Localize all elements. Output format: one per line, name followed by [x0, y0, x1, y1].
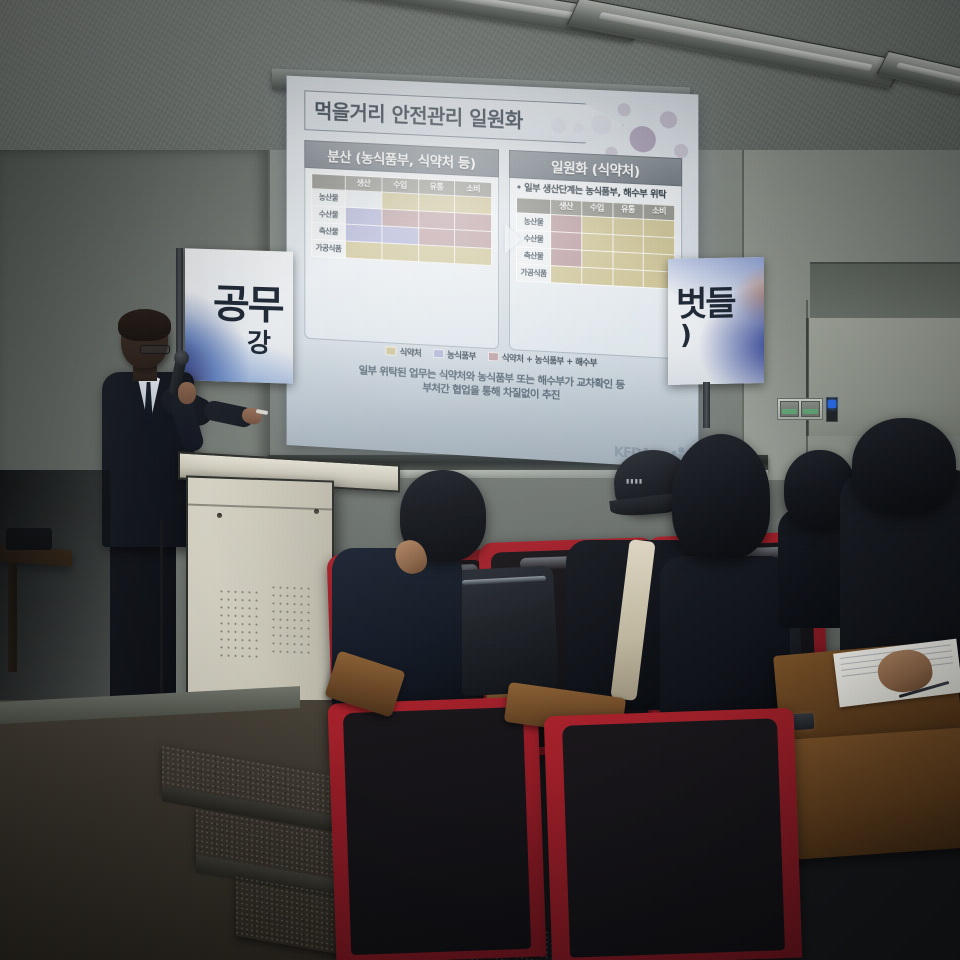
- cell-a-3-0: [551, 265, 582, 284]
- transition-arrow-icon: [505, 224, 521, 255]
- banner-left-line2: 강: [247, 322, 269, 360]
- matrix-after-row-0: 농산물: [517, 212, 551, 231]
- matrix-before-row-3: 가공식품: [312, 239, 346, 258]
- speaker-right-hand: [178, 382, 196, 404]
- cell-b-0-0: [345, 190, 381, 209]
- cell-a-0-3: [643, 219, 674, 238]
- legend-label-all: 식약처 + 농식품부 + 해수부: [502, 353, 597, 368]
- cell-b-3-0: [345, 241, 381, 260]
- matrix-before-row-0: 농산물: [312, 189, 346, 208]
- legend-swatch-kfda: [386, 346, 397, 356]
- matrix-after-col-0: 생산: [551, 199, 582, 216]
- legend-item-kfda: 식약처: [386, 345, 421, 359]
- cell-a-1-2: [612, 234, 643, 253]
- panel-after-body: • 일부 생산단계는 농식품부, 해수부 위탁 생산 수입 유통 소비: [509, 178, 682, 360]
- theater-seat-front[interactable]: [328, 696, 547, 960]
- cell-b-1-0: [345, 207, 381, 226]
- matrix-after-col-3: 소비: [643, 204, 674, 221]
- audience-2-cap-logo-icon: ▮▮▮▮: [626, 478, 643, 485]
- cell-a-1-1: [581, 233, 612, 252]
- legend-swatch-all: [488, 352, 499, 362]
- cell-a-0-2: [612, 217, 643, 236]
- podium-speaker-grille-right: [270, 583, 312, 658]
- matrix-before-row-1: 수산물: [312, 205, 346, 224]
- backpack-1: [449, 565, 559, 696]
- cell-b-3-1: [382, 243, 418, 262]
- cell-b-0-2: [418, 194, 455, 213]
- panel-after: 일원화 (식약처) • 일부 생산단계는 농식품부, 해수부 위탁 생산 수입: [509, 150, 682, 356]
- banner-right-line1: 벗들: [676, 276, 735, 326]
- legend-label-mafra: 농식품부: [447, 350, 476, 362]
- podium-screw-left: [217, 513, 222, 518]
- cell-b-0-3: [455, 196, 492, 215]
- legend-swatch-mafra: [433, 349, 444, 359]
- cell-a-1-3: [643, 236, 674, 255]
- cell-a-3-2: [612, 268, 643, 287]
- microphone-cable: [160, 520, 182, 710]
- presentation-slide: 먹을거리 안전관리 일원화 분산 (농식품부, 식약처 등) 생산 수입: [287, 76, 699, 470]
- audience-3-torso: [660, 556, 790, 730]
- cell-b-2-3: [455, 230, 492, 249]
- legend-item-mafra: 농식품부: [433, 348, 476, 362]
- podium-speaker-grille-left: [218, 587, 260, 662]
- cell-b-2-1: [382, 226, 418, 245]
- matrix-after-row-1: 수산물: [517, 229, 551, 248]
- cell-b-1-2: [418, 211, 455, 230]
- lecture-hall-photo: 먹을거리 안전관리 일원화 분산 (농식품부, 식약처 등) 생산 수입: [0, 0, 960, 960]
- matrix-before-corner: [312, 174, 346, 191]
- matrix-after-row-3: 가공식품: [517, 263, 551, 282]
- matrix-before: 생산 수입 유통 소비 농산물: [311, 173, 492, 266]
- theater-seat-front-2[interactable]: [544, 708, 803, 960]
- matrix-after-col-2: 유통: [612, 202, 643, 219]
- cell-b-3-2: [418, 245, 455, 264]
- matrix-after-col-1: 수입: [581, 201, 612, 218]
- legend-label-kfda: 식약처: [400, 347, 421, 358]
- audience-5-head: [852, 418, 956, 514]
- matrix-after-corner: [517, 197, 551, 214]
- projection-screen: 먹을거리 안전관리 일원화 분산 (농식품부, 식약처 등) 생산 수입: [287, 76, 699, 470]
- cell-b-0-1: [382, 192, 418, 211]
- cell-a-1-0: [551, 231, 582, 250]
- podium-screw-right: [314, 509, 319, 514]
- cell-b-2-0: [345, 224, 381, 243]
- matrix-before-row-2: 축산물: [312, 222, 346, 241]
- wall-upper-band: [810, 262, 960, 322]
- cell-b-1-1: [382, 209, 418, 228]
- light-switch-2[interactable]: [801, 401, 820, 417]
- audience-3-head: [672, 434, 770, 558]
- wall-control-panel[interactable]: [777, 398, 823, 420]
- left-shadow-area: [0, 470, 110, 720]
- cell-a-2-2: [612, 251, 643, 270]
- panel-before: 분산 (농식품부, 식약처 등) 생산 수입 유통 소비: [304, 140, 499, 345]
- status-led-indicator: [826, 397, 838, 422]
- light-switch-1[interactable]: [780, 401, 799, 417]
- speaker-hair: [118, 309, 171, 341]
- speaker-glasses: [140, 345, 170, 354]
- cell-a-0-0: [551, 214, 582, 233]
- banner-right-line2: ): [680, 321, 690, 351]
- banner-left: 공무 강: [185, 248, 293, 383]
- banner-right: 벗들 ): [668, 257, 764, 385]
- cell-a-2-0: [551, 248, 582, 267]
- cell-a-3-1: [581, 267, 612, 286]
- panel-before-body: 생산 수입 유통 소비 농산물: [304, 168, 499, 350]
- cell-a-0-1: [581, 216, 612, 235]
- matrix-after: 생산 수입 유통 소비 농산물: [516, 197, 675, 289]
- matrix-after-row-2: 축산물: [517, 246, 551, 265]
- cell-b-1-3: [455, 213, 492, 232]
- cell-b-2-2: [418, 228, 455, 247]
- cell-a-2-1: [581, 250, 612, 269]
- cell-b-3-3: [455, 247, 492, 266]
- slide-panels: 분산 (농식품부, 식약처 등) 생산 수입 유통 소비: [304, 140, 682, 356]
- banner-right-pole: [703, 382, 710, 428]
- writing-desk-2: [774, 728, 960, 861]
